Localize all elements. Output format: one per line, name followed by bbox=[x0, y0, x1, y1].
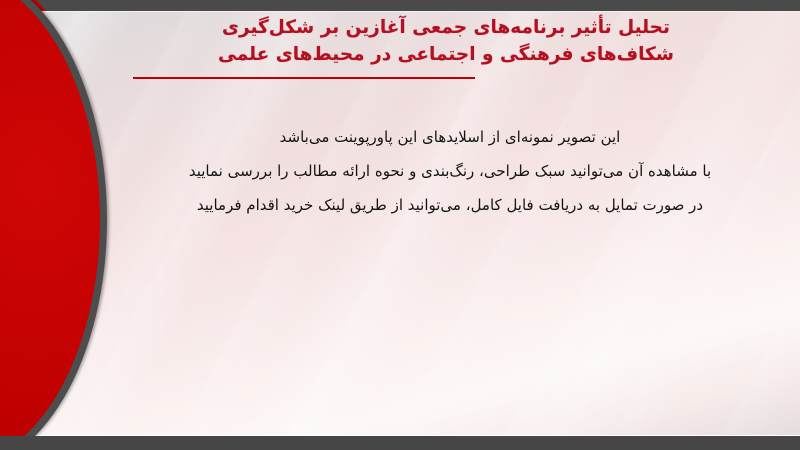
slide-body-line-2: با مشاهده آن می‌توانید سبک طراحی، رنگ‌بن… bbox=[140, 154, 760, 188]
title-underline-rule bbox=[133, 77, 475, 79]
bottom-dark-band bbox=[0, 436, 800, 450]
slide-title: تحلیل تأثیر برنامه‌های جمعی آغازین بر شک… bbox=[120, 14, 772, 69]
slide-body-line-1: این تصویر نمونه‌ای از اسلایدهای این پاور… bbox=[140, 120, 760, 154]
slide-canvas: تحلیل تأثیر برنامه‌های جمعی آغازین بر شک… bbox=[0, 0, 800, 450]
slide-body-line-3: در صورت تمایل به دریافت فایل کامل، می‌تو… bbox=[140, 188, 760, 222]
slide-title-line-2: شکاف‌های فرهنگی و اجتماعی در محیط‌های عل… bbox=[120, 41, 772, 68]
content-panel bbox=[16, 11, 800, 437]
slide-title-line-1: تحلیل تأثیر برنامه‌های جمعی آغازین بر شک… bbox=[120, 14, 772, 41]
slide-body: این تصویر نمونه‌ای از اسلایدهای این پاور… bbox=[140, 120, 760, 223]
